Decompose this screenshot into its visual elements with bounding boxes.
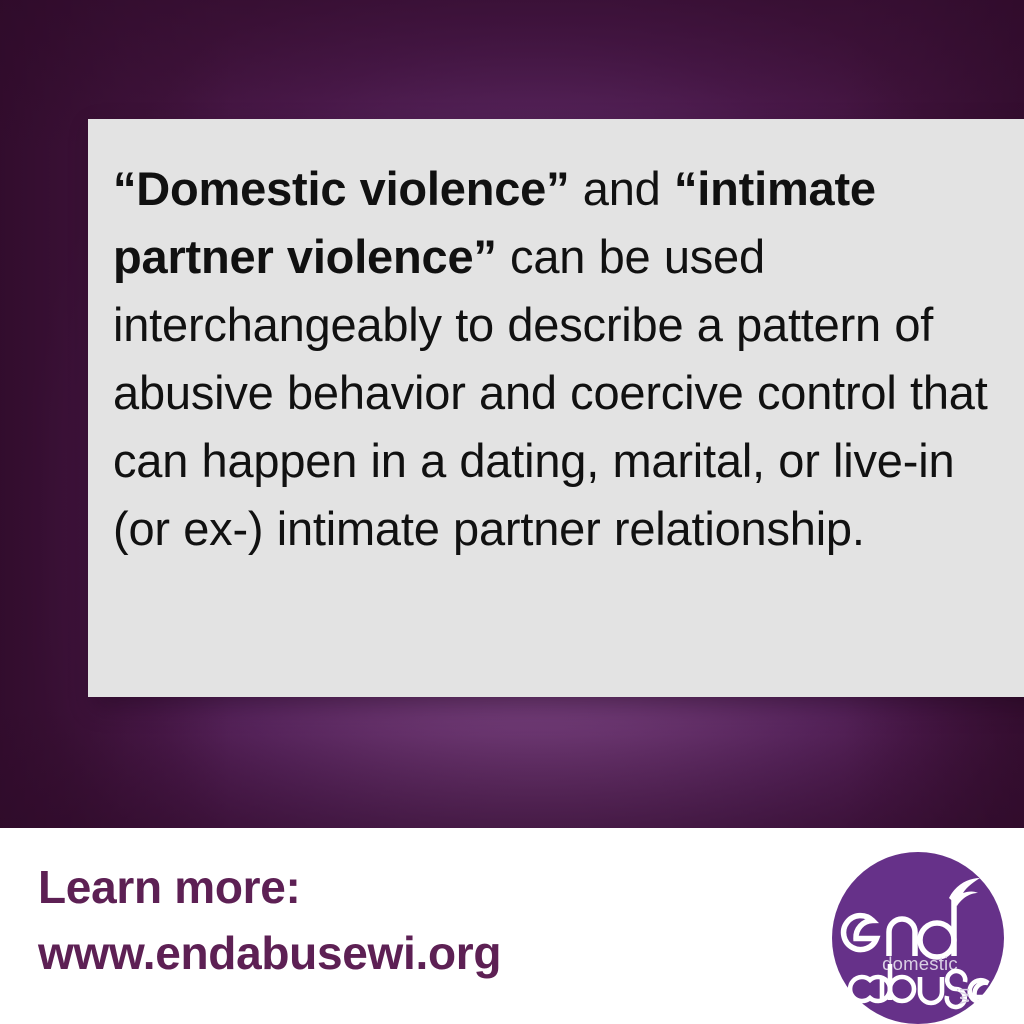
quote-text: “Domestic violence” and “intimate partne…: [113, 155, 1008, 563]
quote-connector-and: and: [569, 162, 674, 215]
hero-vignette-bottom: [0, 708, 1024, 828]
website-link[interactable]: www.endabusewi.org: [38, 920, 738, 986]
logo-word-domestic: domestic: [882, 953, 958, 974]
quote-bold-domestic-violence: “Domestic violence”: [113, 162, 569, 215]
learn-more-label: Learn more:: [38, 854, 738, 920]
end-domestic-abuse-wi-logo[interactable]: domestic wi: [832, 852, 1004, 1024]
logo-word-wi: wi: [954, 988, 973, 1005]
social-graphic: “Domestic violence” and “intimate partne…: [0, 0, 1024, 1024]
footer-text-block: Learn more: www.endabusewi.org: [38, 854, 738, 986]
quote-card: “Domestic violence” and “intimate partne…: [88, 119, 1024, 697]
